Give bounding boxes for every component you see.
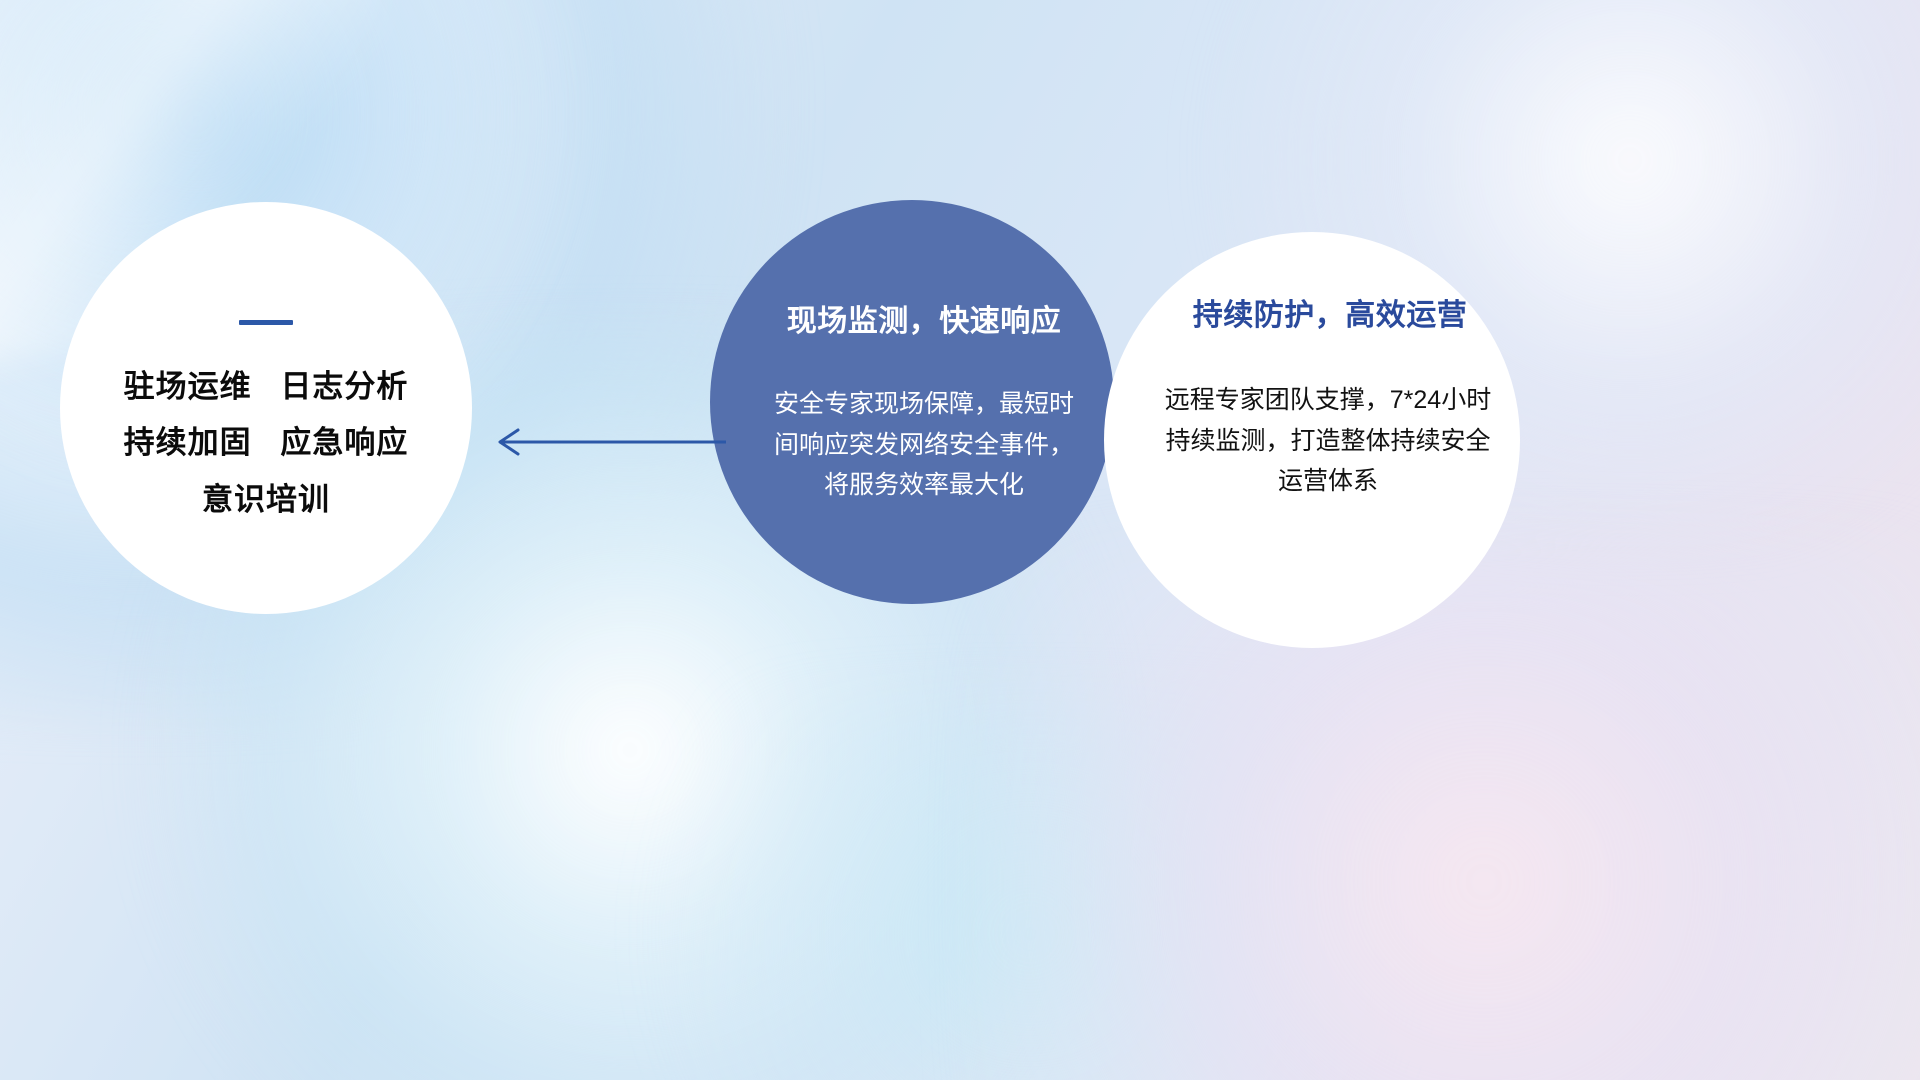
capabilities-list: 驻场运维 日志分析 持续加固 应急响应 意识培训 xyxy=(124,359,409,528)
continuous-protection-circle[interactable]: 持续防护，高效运营 远程专家团队支撑，7*24小时持续监测，打造整体持续安全运营… xyxy=(1104,232,1520,648)
flow-arrow-left-icon xyxy=(488,414,728,470)
accent-dash-divider xyxy=(239,320,293,325)
onsite-monitoring-circle[interactable]: 现场监测，快速响应 安全专家现场保障，最短时间响应突发网络安全事件，将服务效率最… xyxy=(710,200,1114,604)
continuous-protection-body: 远程专家团队支撑，7*24小时持续监测，打造整体持续安全运营体系 xyxy=(1158,380,1498,502)
background-glow-bottom-right xyxy=(980,540,1920,1080)
slide-canvas: 驻场运维 日志分析 持续加固 应急响应 意识培训 现场监测，快速响应 安全专家现… xyxy=(0,0,1920,1080)
capability-line-2: 持续加固 应急响应 xyxy=(124,415,409,471)
capability-line-3: 意识培训 xyxy=(124,472,409,528)
capabilities-circle[interactable]: 驻场运维 日志分析 持续加固 应急响应 意识培训 xyxy=(60,202,472,614)
continuous-protection-title: 持续防护，高效运营 xyxy=(1193,290,1468,334)
onsite-monitoring-body: 安全专家现场保障，最短时间响应突发网络安全事件，将服务效率最大化 xyxy=(774,384,1074,506)
capability-line-1: 驻场运维 日志分析 xyxy=(124,359,409,415)
onsite-monitoring-title: 现场监测，快速响应 xyxy=(787,296,1062,340)
